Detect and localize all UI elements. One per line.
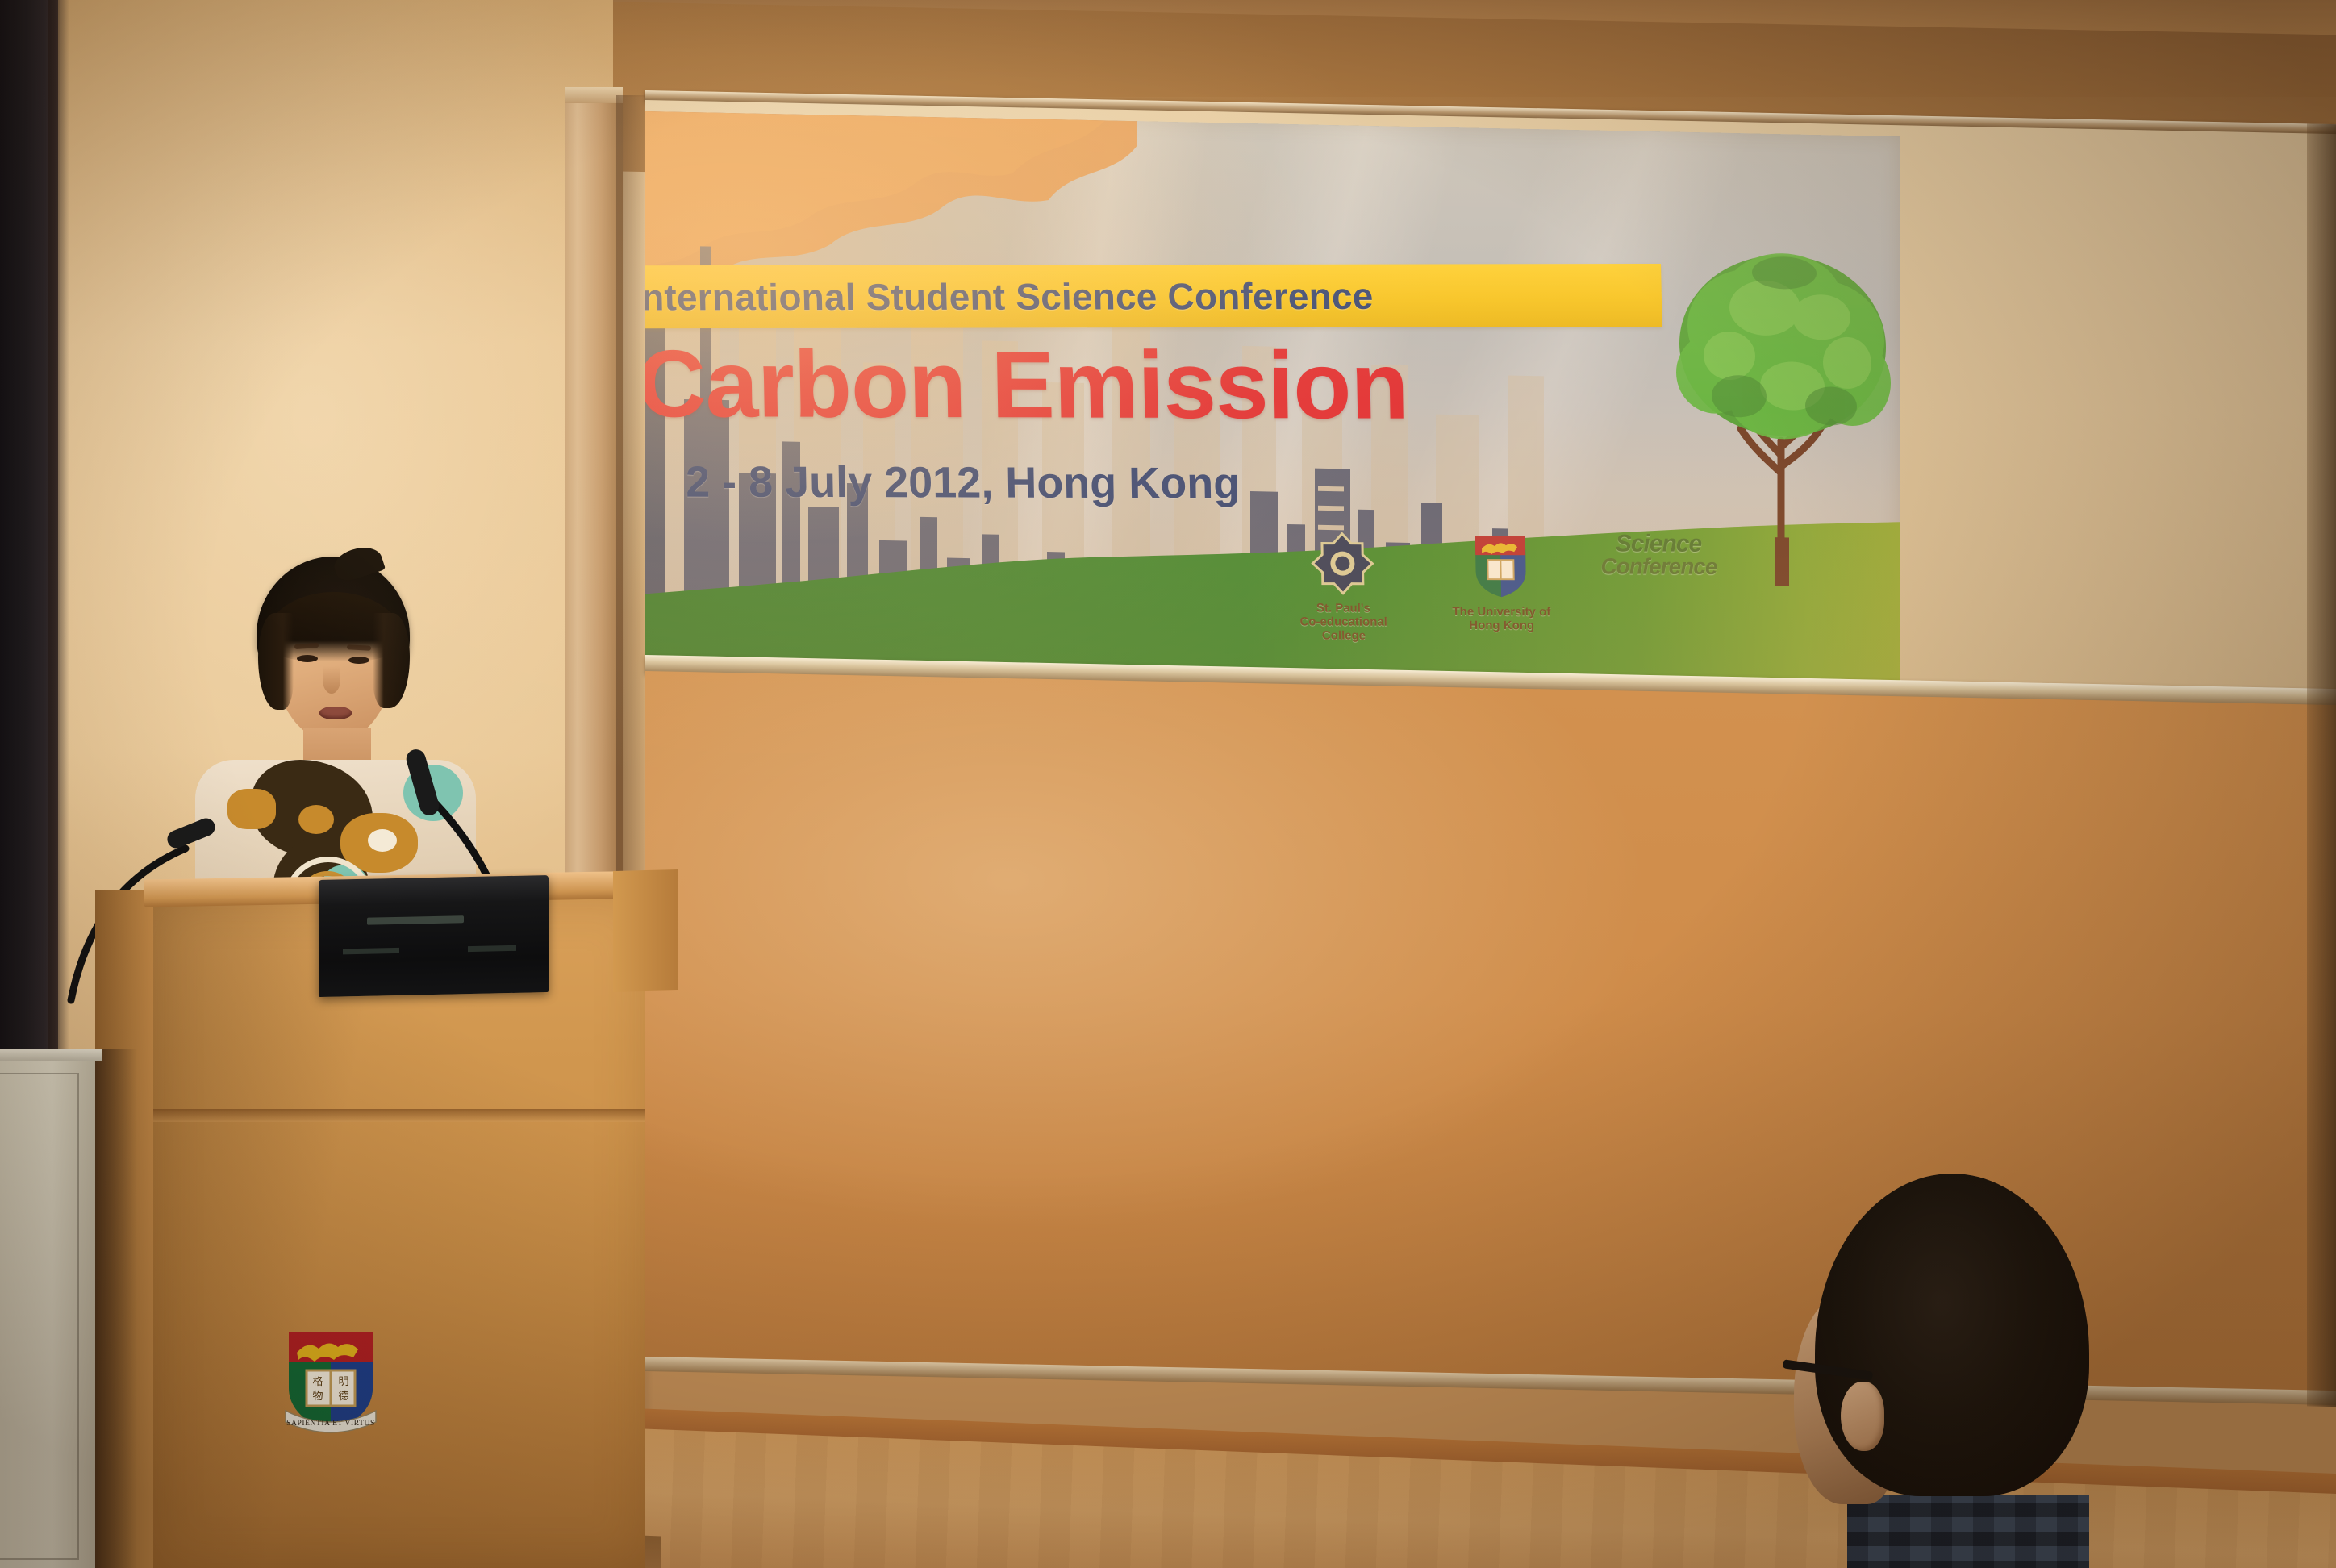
monitor-vent-left (343, 948, 399, 954)
pillar-cap (565, 87, 623, 103)
science-conference-wordmark: Science Conference (1598, 532, 1720, 577)
whiteboard-right-edge (2307, 123, 2336, 1407)
svg-text:物: 物 (312, 1391, 323, 1403)
speaker-hair-left (258, 613, 294, 710)
audience-member (1799, 1174, 2146, 1568)
podium-groove (153, 1109, 645, 1122)
cabinet-top (0, 1049, 102, 1061)
hku-crest-icon (1472, 532, 1529, 598)
svg-text:SAPIENTIA ET VIRTUS: SAPIENTIA ET VIRTUS (286, 1420, 375, 1428)
speaker-eye-right (348, 657, 369, 664)
monitor-vent-right (468, 945, 516, 952)
banner-subtitle: International Student Science Conference (645, 273, 1655, 319)
speaker-hair-right (373, 613, 410, 708)
speaker-mouth (319, 707, 352, 719)
cabinet-door-panel (0, 1073, 79, 1560)
hku-crest-podium-icon: 格 明 物 德 SAPIENTIA ET VIRTUS (282, 1327, 379, 1436)
speaker-eye-left (297, 655, 318, 662)
cabinet-shadow (90, 1049, 137, 1568)
st-pauls-crest-icon (1311, 532, 1374, 595)
speaker-nose (323, 666, 340, 694)
blouse-pattern (298, 805, 334, 834)
svg-text:德: 德 (338, 1391, 348, 1403)
logo-hku: The University of Hong Kong (1440, 532, 1562, 633)
presenter-monitor (319, 875, 549, 997)
podium-shading (153, 898, 645, 1568)
logo-st-pauls: St. Paul's Co-educational College (1282, 532, 1404, 643)
logo-science-conference: Science Conference (1598, 532, 1720, 577)
banner-dateline: 2 - 8 July 2012, Hong Kong (686, 457, 1574, 510)
svg-text:格: 格 (312, 1375, 323, 1388)
conference-banner: International Student Science Conference… (645, 107, 1900, 690)
whiteboard-upper: International Student Science Conference… (645, 100, 2336, 692)
svg-text:明: 明 (338, 1376, 348, 1388)
logo-st-pauls-caption: St. Paul's Co-educational College (1283, 602, 1404, 643)
monitor-indicator (367, 915, 464, 925)
banner-title: Carbon Emission (645, 336, 1687, 434)
conference-photo-scene: International Student Science Conference… (0, 0, 2336, 1568)
banner-logo-row: St. Paul's Co-educational College (1282, 532, 1800, 654)
logo-hku-caption: The University of Hong Kong (1441, 606, 1562, 633)
audience-shirt-check (1847, 1495, 2089, 1568)
podium-right-side (613, 869, 678, 992)
audience-ear (1841, 1382, 1884, 1451)
